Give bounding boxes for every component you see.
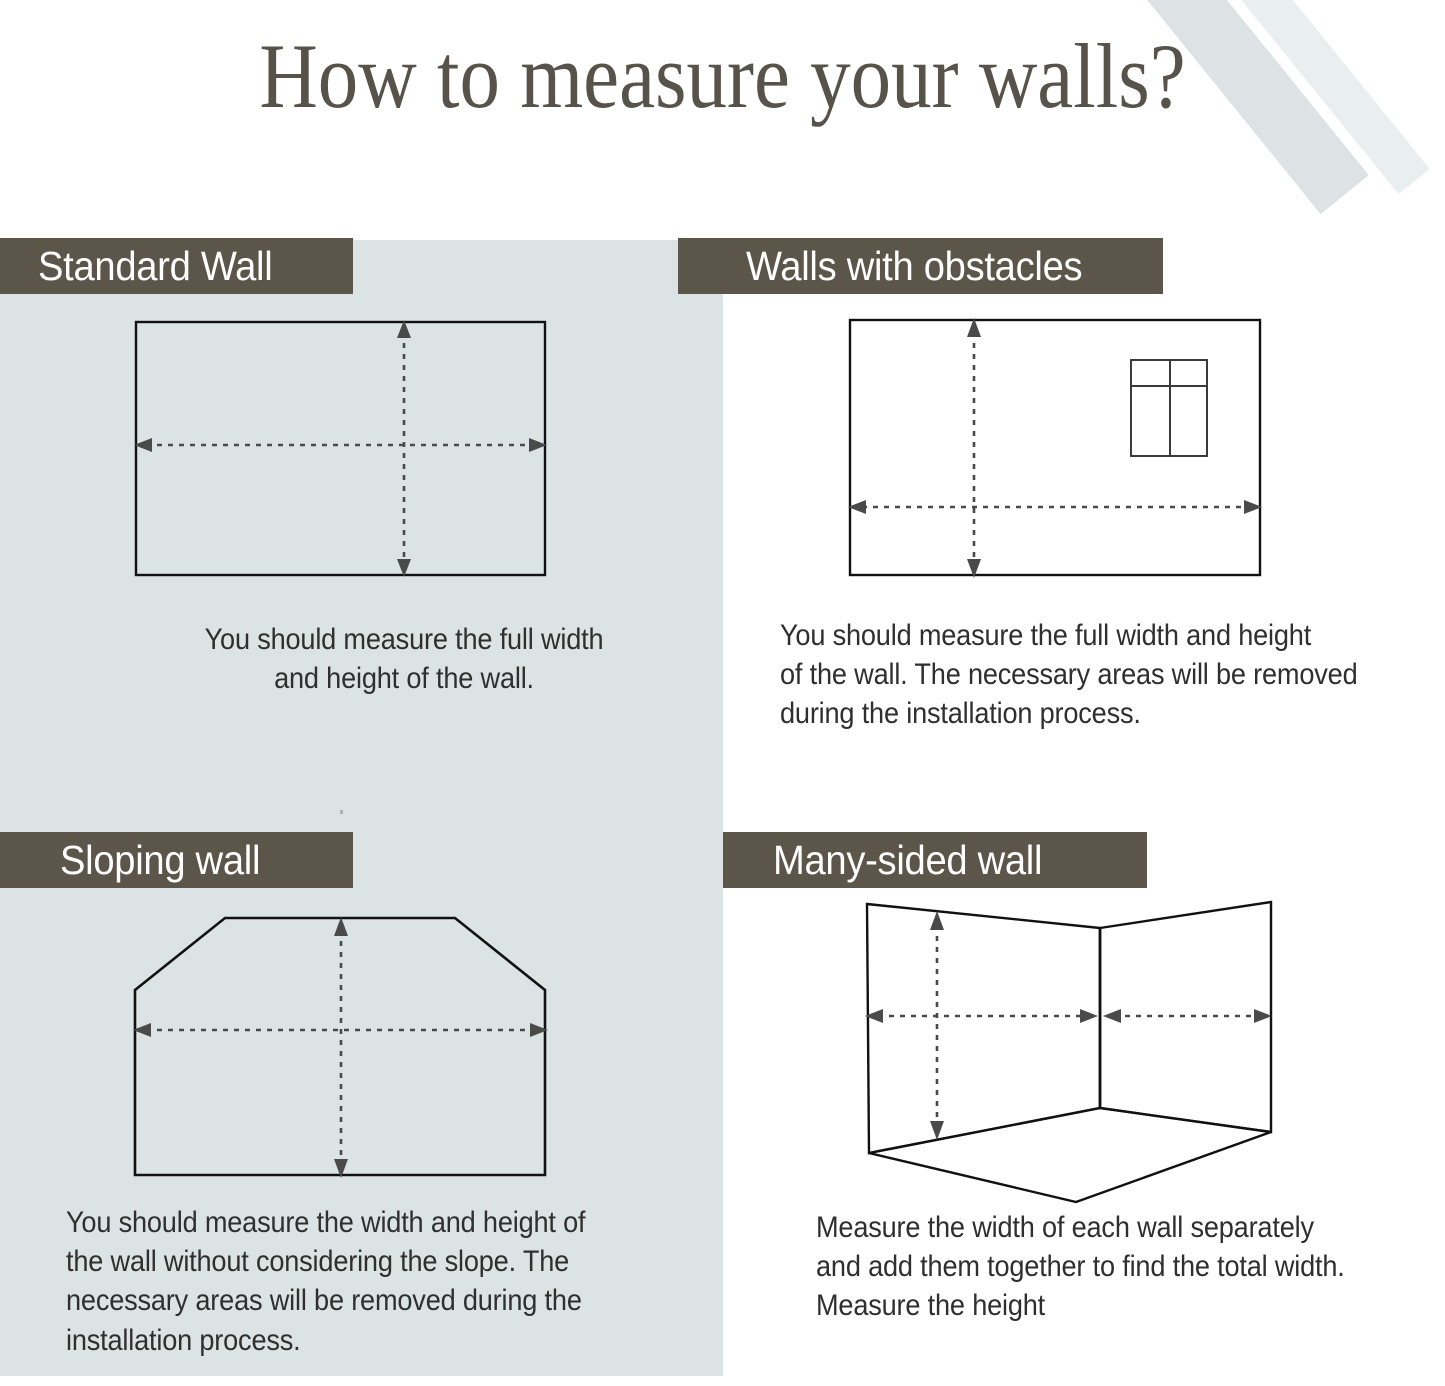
wall-with-window-diagram [820,300,1290,600]
caption-line: the wall without considering the slope. … [66,1242,636,1281]
caption-line: of the wall. The necessary areas will be… [780,655,1369,694]
section-header-sloping-wall: Sloping wall [0,832,353,888]
caption-line: necessary areas will be removed during t… [66,1281,636,1320]
caption-line: installation process. [66,1321,636,1360]
wall-rectangle [136,322,545,575]
sloping-wall-diagram [110,890,580,1195]
standard-wall-diagram [110,300,580,600]
caption-many-sided-wall: Measure the width of each wall separatel… [816,1208,1436,1326]
caption-walls-with-obstacles: You should measure the full width and he… [780,616,1420,734]
stray-dot-icon [340,810,343,814]
section-header-label: Many-sided wall [773,837,1042,884]
caption-line: and add them together to find the total … [816,1247,1386,1286]
section-header-standard-wall: Standard Wall [0,238,353,294]
height-arrow-down-icon [930,1121,944,1140]
caption-line: You should measure the width and height … [66,1203,636,1242]
section-header-label: Standard Wall [38,243,272,290]
floor-face [869,1108,1271,1202]
caption-standard-wall: You should measure the full width and he… [104,620,704,698]
infographic-page: How to measure your walls? Standard Wall… [0,0,1445,1386]
caption-line: You should measure the full width and he… [780,616,1369,655]
right-width-arrow-left-icon [1103,1009,1121,1023]
height-arrow-up-icon [930,911,944,930]
right-width-arrow-right-icon [1254,1009,1272,1023]
caption-line: during the installation process. [780,694,1369,733]
caption-line: You should measure the full width [128,620,680,659]
window-obstacle-icon [1131,360,1207,456]
caption-line: Measure the height [816,1286,1386,1325]
section-header-label: Walls with obstacles [746,243,1082,290]
caption-line: Measure the width of each wall separatel… [816,1208,1386,1247]
wall-rectangle [850,320,1260,575]
section-header-label: Sloping wall [60,837,260,884]
left-width-arrow-right-icon [1080,1009,1098,1023]
section-header-walls-with-obstacles: Walls with obstacles [678,238,1163,294]
caption-line: and height of the wall. [128,659,680,698]
height-arrow-up-icon [334,917,348,936]
page-title: How to measure your walls? [87,28,1359,125]
corner-room-diagram [840,880,1310,1215]
caption-sloping-wall: You should measure the width and height … [66,1203,686,1360]
